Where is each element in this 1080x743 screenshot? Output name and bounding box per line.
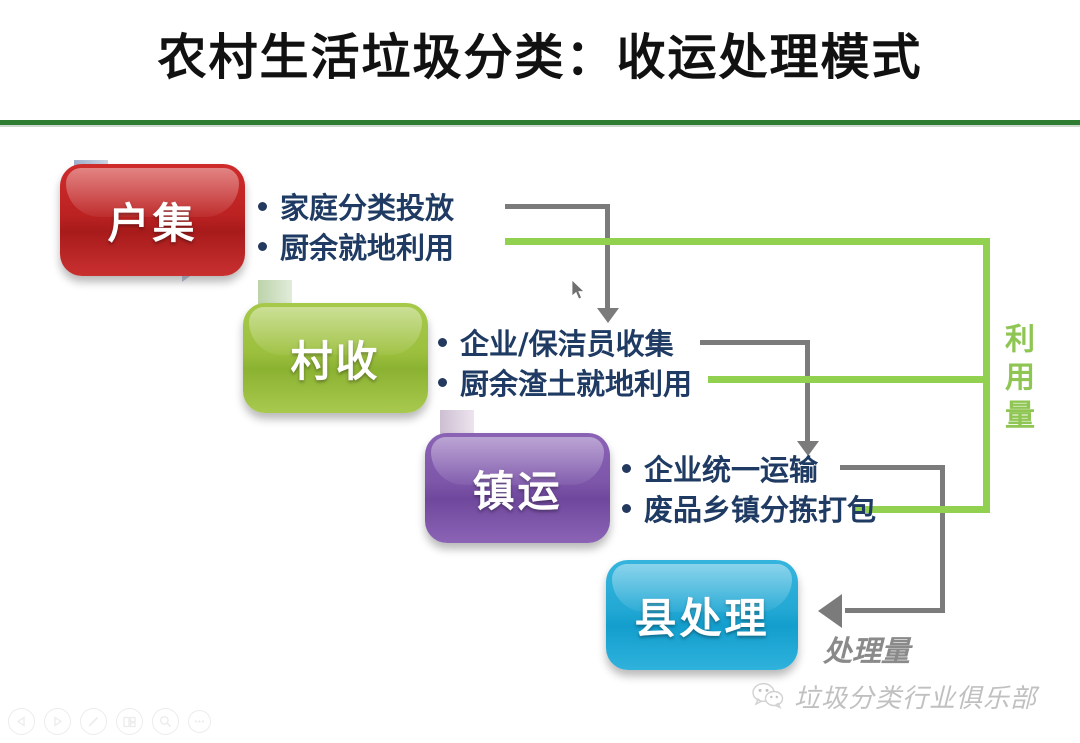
node-county[interactable]: 县处理 [606,560,798,670]
watermark-label: 垃圾分类行业俱乐部 [794,678,1037,715]
bullet-group-town: 企业统一运输 废品乡镇分拣打包 [622,448,876,528]
bullet-label: 厨余就地利用 [280,225,454,267]
slideshow-toolbar [8,708,211,735]
bullet-dot-icon [622,504,631,513]
bullet-item: 废品乡镇分拣打包 [622,488,876,528]
node-county-label: 县处理 [634,585,769,646]
wechat-icon [752,683,784,710]
connector-gray-3-horizontal-bottom [845,608,945,613]
slide-grid-button[interactable] [116,708,143,735]
label-utilization: 利用量 [994,323,1038,437]
bullet-dot-icon [438,338,447,347]
zoom-button[interactable] [152,708,179,735]
bullet-item: 厨余就地利用 [258,226,454,266]
bullet-dot-icon [258,242,267,251]
triangle-left-icon [16,716,27,727]
bullet-item: 企业统一运输 [622,448,876,488]
connector-gray-3-arrowhead [818,594,842,628]
bullet-label: 企业统一运输 [644,447,818,489]
diagram-stage: 户集 村收 镇运 县处理 家庭分类投放 厨余就地利用 企业/保 [0,128,1080,688]
pen-icon [87,715,100,728]
node-town[interactable]: 镇运 [425,433,610,543]
connector-gray-1-vertical [605,204,610,312]
ellipsis-icon [194,719,205,724]
bullet-item: 厨余渣土就地利用 [438,362,692,402]
more-options-button[interactable] [188,710,211,733]
bullet-label: 企业/保洁员收集 [460,321,674,363]
slide-canvas: 农村生活垃圾分类：收运处理模式 [0,0,1080,743]
bullet-group-household: 家庭分类投放 厨余就地利用 [258,186,454,266]
page-title: 农村生活垃圾分类：收运处理模式 [0,18,1080,89]
triangle-right-icon [52,716,63,727]
bullet-label: 家庭分类投放 [280,185,454,227]
grid-icon [123,716,136,728]
mouse-cursor [572,280,588,302]
bullet-label: 厨余渣土就地利用 [460,361,692,403]
bullet-dot-icon [438,378,447,387]
pen-tool-button[interactable] [80,708,107,735]
connector-gray-2-horizontal [700,340,810,345]
bullet-dot-icon [258,202,267,211]
connector-gray-3-vertical [940,465,945,613]
next-slide-button[interactable] [44,708,71,735]
bullet-group-village: 企业/保洁员收集 厨余渣土就地利用 [438,322,692,402]
node-household[interactable]: 户集 [60,164,245,276]
bullet-item: 企业/保洁员收集 [438,322,692,362]
connector-green-1 [505,238,990,245]
connector-green-trunk [983,238,990,508]
magnifier-icon [159,715,172,728]
connector-gray-1-horizontal [505,204,610,209]
node-town-label: 镇运 [472,458,562,519]
connector-green-2 [708,376,990,383]
previous-slide-button[interactable] [8,708,35,735]
bullet-dot-icon [622,464,631,473]
node-village[interactable]: 村收 [243,303,428,413]
title-divider [0,120,1080,125]
bullet-item: 家庭分类投放 [258,186,454,226]
node-village-label: 村收 [290,328,380,389]
connector-gray-2-vertical [805,340,810,445]
bullet-label: 废品乡镇分拣打包 [644,487,876,529]
label-treatment: 处理量 [823,628,910,670]
node-household-label: 户集 [107,190,197,251]
wechat-watermark: 垃圾分类行业俱乐部 [752,678,1037,715]
